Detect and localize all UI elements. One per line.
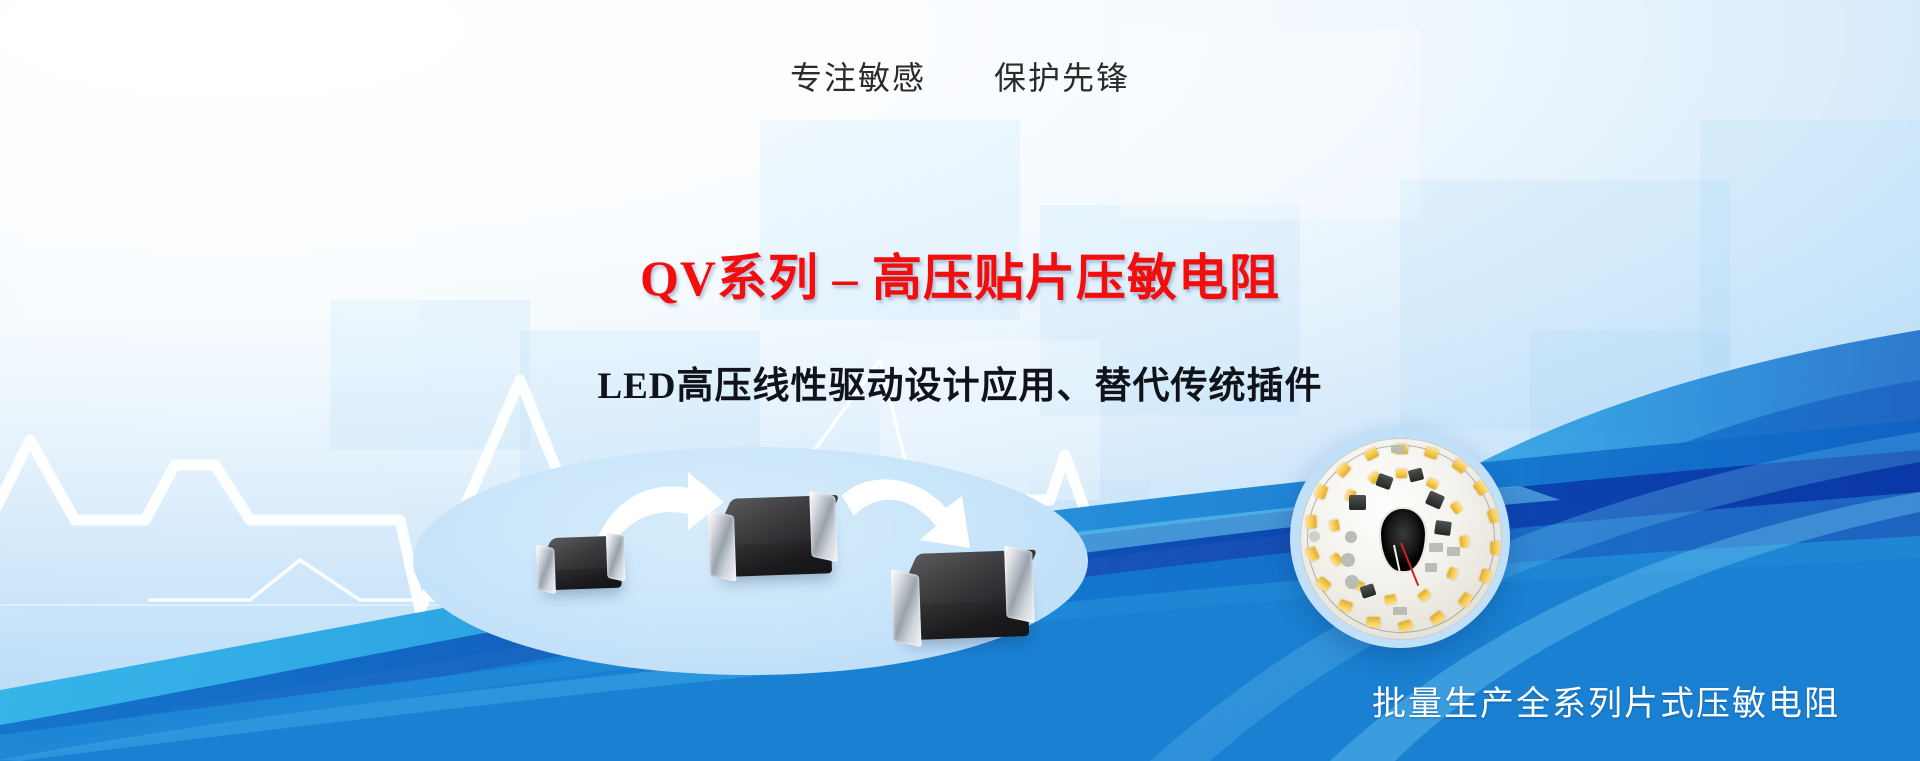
banner-tagline: 专注敏感 保护先锋 [0,53,1920,99]
led-module-image [1290,428,1510,648]
banner-title: QV系列 – 高压贴片压敏电阻 [0,238,1920,310]
banner-footnote: 批量生产全系列片式压敏电阻 [1372,676,1840,725]
smd-varistor-medium [703,482,857,602]
promo-banner: 专注敏感 保护先锋 QV系列 – 高压贴片压敏电阻 LED高压线性驱动设计应用、… [0,0,1920,761]
smd-varistor-large [886,537,1055,668]
banner-subtitle: LED高压线性驱动设计应用、替代传统插件 [0,355,1920,409]
smd-varistor-small [532,525,635,608]
